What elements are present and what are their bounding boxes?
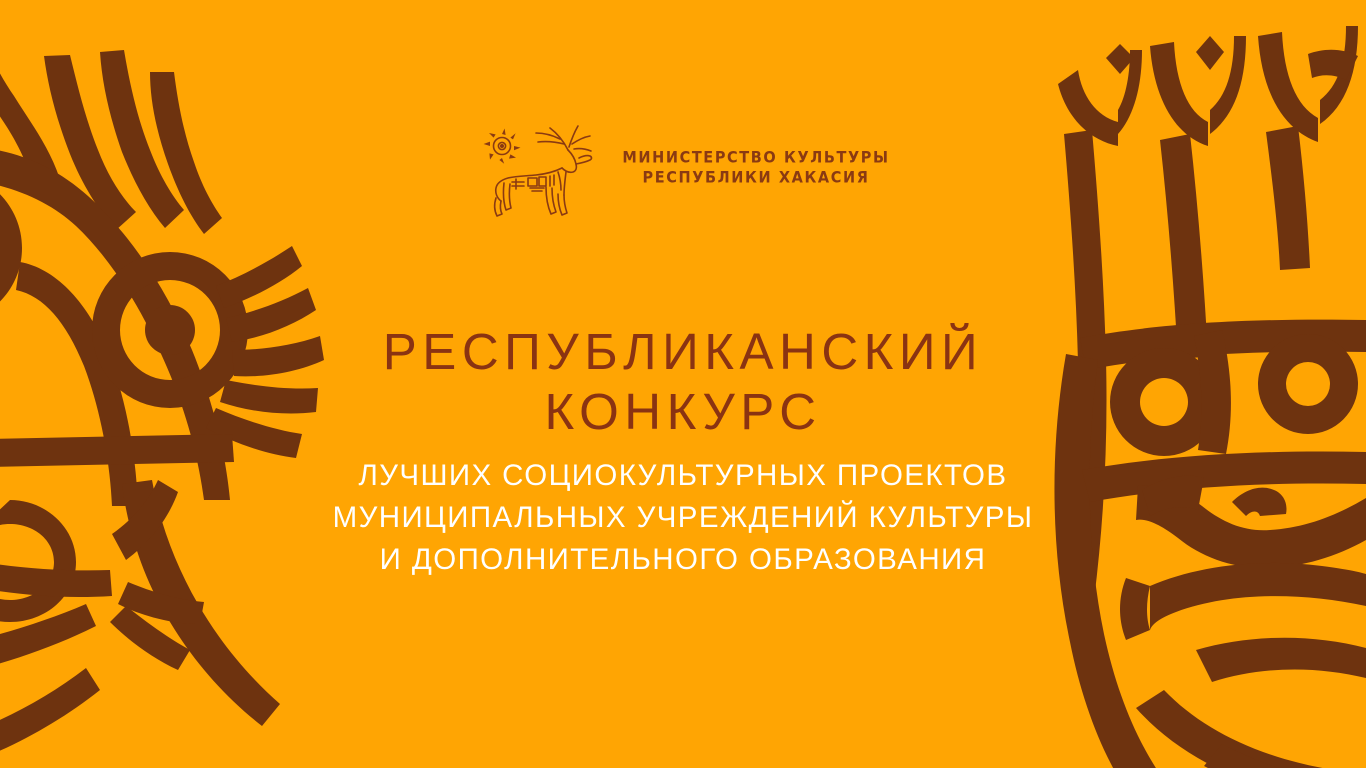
ministry-name-line-1: МИНИСТЕРСТВО КУЛЬТУРЫ xyxy=(622,150,889,166)
deer-icon xyxy=(495,126,592,216)
headline-line-1: РЕСПУБЛИКАНСКИЙ xyxy=(0,322,1366,382)
subtitle-line-3: И ДОПОЛНИТЕЛЬНОГО ОБРАЗОВАНИЯ xyxy=(0,539,1366,581)
page-subtitle: ЛУЧШИХ СОЦИОКУЛЬТУРНЫХ ПРОЕКТОВ МУНИЦИПА… xyxy=(0,455,1366,581)
subtitle-line-1: ЛУЧШИХ СОЦИОКУЛЬТУРНЫХ ПРОЕКТОВ xyxy=(0,455,1366,497)
ministry-wordmark: МИНИСТЕРСТВО КУЛЬТУРЫ РЕСПУБЛИКИ ХАКАСИЯ xyxy=(622,151,889,189)
sun-icon xyxy=(484,129,521,164)
ministry-logo: МИНИСТЕРСТВО КУЛЬТУРЫ РЕСПУБЛИКИ ХАКАСИЯ xyxy=(0,122,1366,218)
headline-line-2: КОНКУРС xyxy=(0,382,1366,442)
hakassia-sun-and-deer-petroglyph-icon xyxy=(476,122,608,218)
page-title: РЕСПУБЛИКАНСКИЙ КОНКУРС xyxy=(0,322,1366,442)
ministry-name-line-2: РЕСПУБЛИКИ ХАКАСИЯ xyxy=(622,170,889,186)
subtitle-line-2: МУНИЦИПАЛЬНЫХ УЧРЕЖДЕНИЙ КУЛЬТУРЫ xyxy=(0,497,1366,539)
poster-canvas: МИНИСТЕРСТВО КУЛЬТУРЫ РЕСПУБЛИКИ ХАКАСИЯ… xyxy=(0,0,1366,768)
